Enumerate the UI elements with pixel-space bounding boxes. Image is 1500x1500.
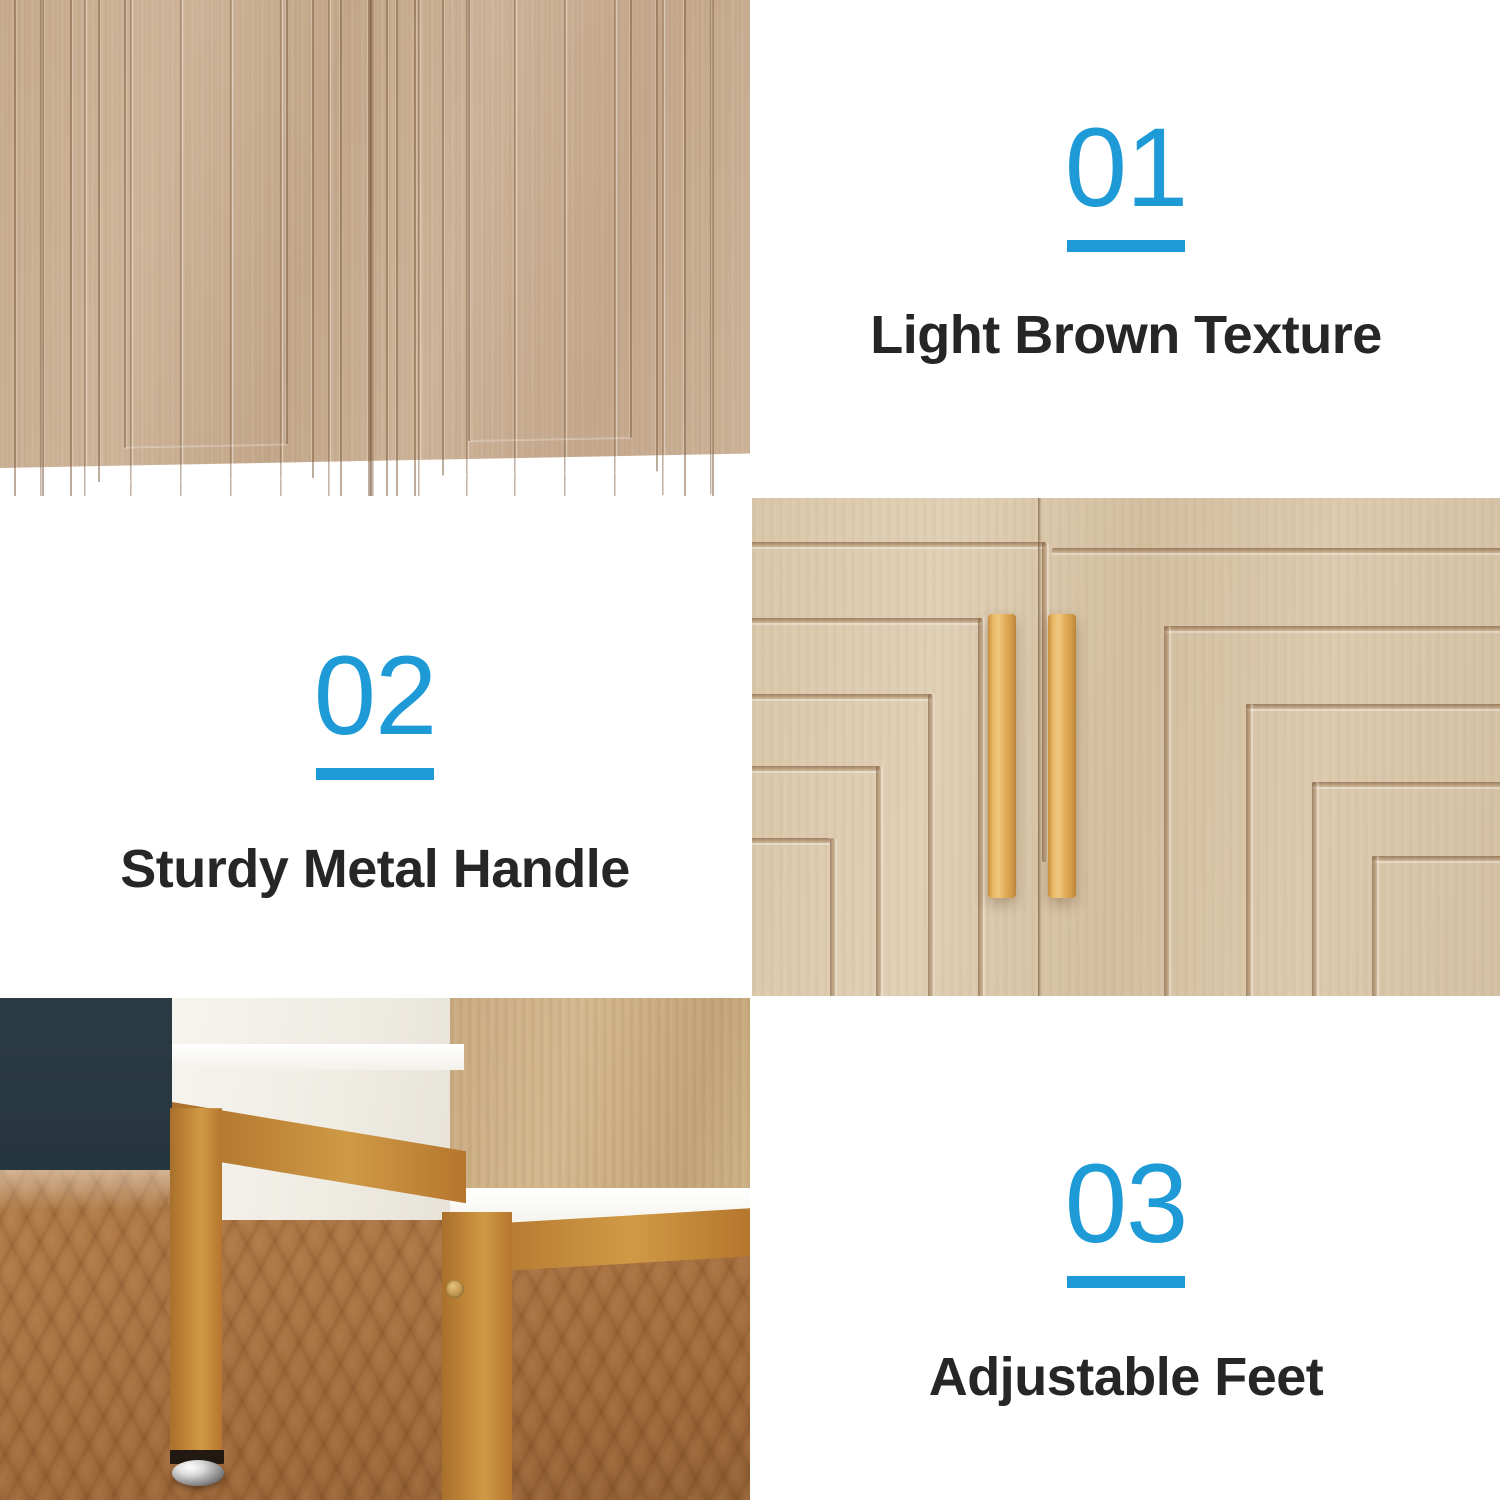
adjustable-feet-photo — [0, 998, 750, 1500]
feature-03-number-block: 03 — [1065, 1148, 1188, 1288]
feature-03-caption-panel: 03 Adjustable Feet — [752, 998, 1500, 1500]
wood-surface — [0, 0, 750, 468]
feature-01-underline — [1067, 240, 1185, 252]
cabinet-leg-front — [442, 1212, 512, 1500]
cabinet-white-trim-side — [172, 1044, 464, 1070]
feature-03-title: Adjustable Feet — [929, 1346, 1324, 1408]
door-seam — [1038, 498, 1041, 996]
feature-02-title: Sturdy Metal Handle — [120, 838, 630, 900]
cabinet-wood-door — [450, 998, 750, 1194]
wood-texture-photo — [0, 0, 750, 496]
metal-handle-right — [1048, 614, 1076, 898]
adjustable-foot-back — [172, 1460, 224, 1486]
groove-frame — [14, 0, 398, 496]
door-seam — [370, 0, 374, 496]
groove-frame — [386, 0, 714, 496]
feature-01-number: 01 — [1065, 112, 1188, 224]
feature-01-number-block: 01 — [1065, 112, 1188, 252]
leg-screw — [446, 1280, 464, 1298]
cabinet-leg-back — [170, 1108, 222, 1461]
product-feature-infographic: 01 Light Brown Texture 02 Sturdy Metal H… — [0, 0, 1500, 1500]
feature-02-caption-panel: 02 Sturdy Metal Handle — [0, 498, 750, 996]
metal-handle-left — [988, 614, 1016, 898]
feature-03-number: 03 — [1065, 1148, 1188, 1260]
feature-01-title: Light Brown Texture — [870, 304, 1382, 366]
feature-01-caption-panel: 01 Light Brown Texture — [752, 0, 1500, 496]
metal-handle-photo — [752, 498, 1500, 996]
feature-02-number: 02 — [314, 640, 437, 752]
handle-wood-surface — [752, 498, 1500, 996]
feature-02-underline — [316, 768, 434, 780]
feature-02-number-block: 02 — [314, 640, 437, 780]
feature-03-underline — [1067, 1276, 1185, 1288]
